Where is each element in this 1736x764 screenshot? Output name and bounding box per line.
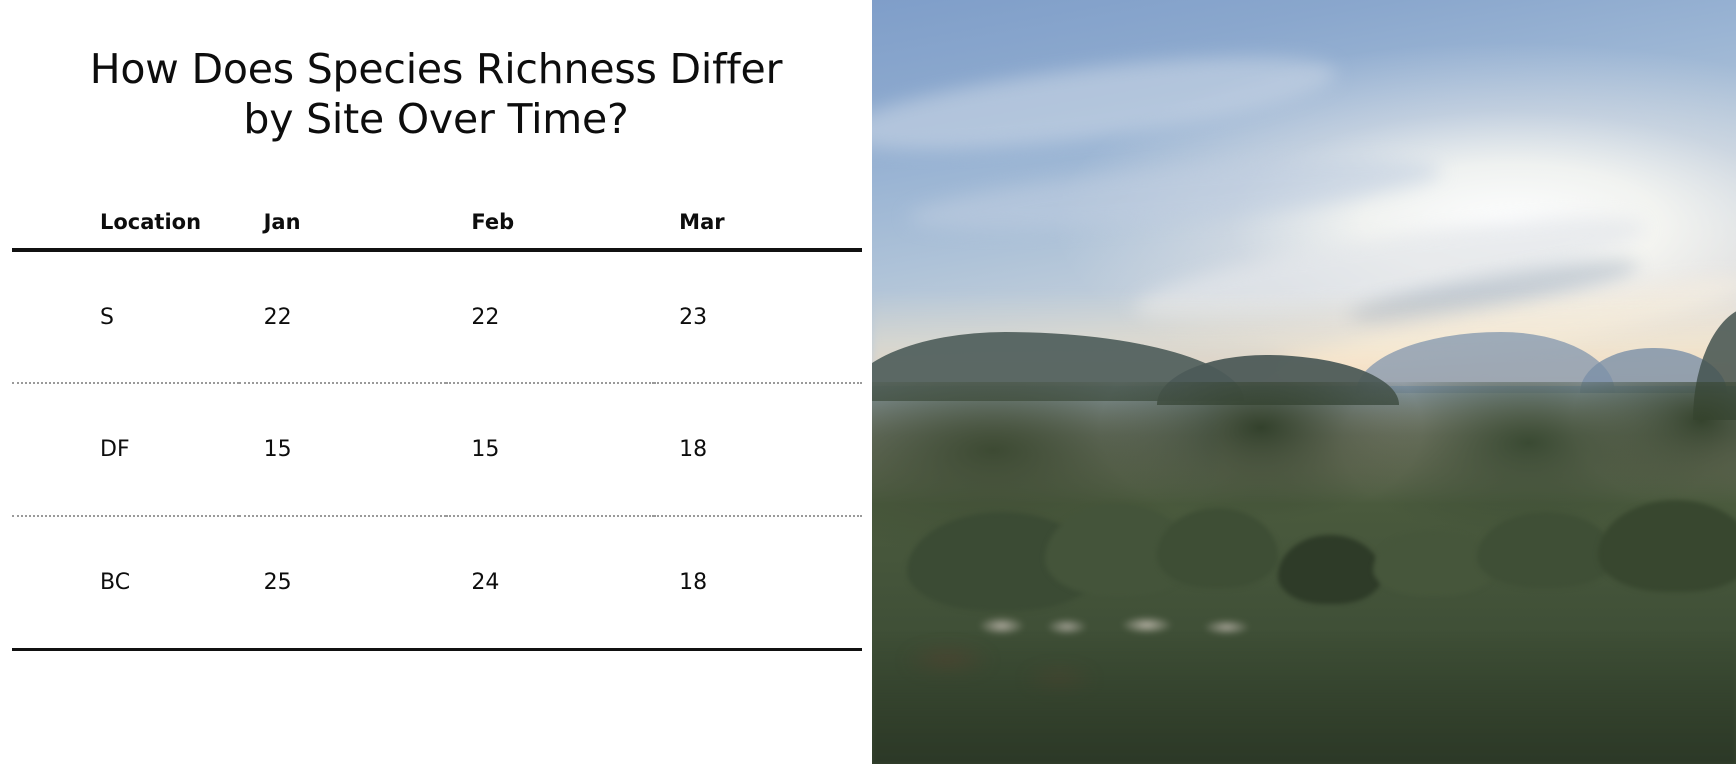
cell-feb: 15	[446, 383, 654, 516]
cell-mar: 23	[654, 250, 862, 383]
tree	[1157, 508, 1278, 588]
species-richness-table: Location Jan Feb Mar S 22 22 23 DF 15 15	[12, 210, 862, 651]
table-row: DF 15 15 18	[12, 383, 862, 516]
cell-mar: 18	[654, 516, 862, 649]
table-header-row: Location Jan Feb Mar	[12, 210, 862, 250]
cell-location: BC	[12, 516, 239, 649]
foreground-vegetation	[872, 382, 1736, 764]
tree	[1477, 512, 1615, 588]
table-row: S 22 22 23	[12, 250, 862, 383]
content-panel: How Does Species Richness Differ by Site…	[0, 0, 872, 764]
tree	[1598, 500, 1736, 592]
cell-feb: 24	[446, 516, 654, 649]
column-header-mar: Mar	[654, 210, 862, 250]
cell-location: S	[12, 250, 239, 383]
cell-mar: 18	[654, 383, 862, 516]
table-row: BC 25 24 18	[12, 516, 862, 649]
table-body: S 22 22 23 DF 15 15 18 BC 25 24 18	[12, 250, 862, 649]
cell-jan: 22	[239, 250, 447, 383]
column-header-location: Location	[12, 210, 239, 250]
tree	[1373, 531, 1494, 596]
column-header-jan: Jan	[239, 210, 447, 250]
table-header: Location Jan Feb Mar	[12, 210, 862, 250]
page-title-line-2: by Site Over Time?	[0, 94, 872, 144]
tree	[1278, 535, 1382, 604]
slide: How Does Species Richness Differ by Site…	[0, 0, 1736, 764]
sunset-photo-panel	[872, 0, 1736, 764]
cell-jan: 25	[239, 516, 447, 649]
column-header-feb: Feb	[446, 210, 654, 250]
coastal-sunset-photo	[872, 0, 1736, 764]
cell-location: DF	[12, 383, 239, 516]
cell-feb: 22	[446, 250, 654, 383]
dark-scrub-layer	[872, 634, 1736, 764]
page-title-line-1: How Does Species Richness Differ	[0, 44, 872, 94]
cell-jan: 15	[239, 383, 447, 516]
page-title: How Does Species Richness Differ by Site…	[0, 44, 872, 144]
